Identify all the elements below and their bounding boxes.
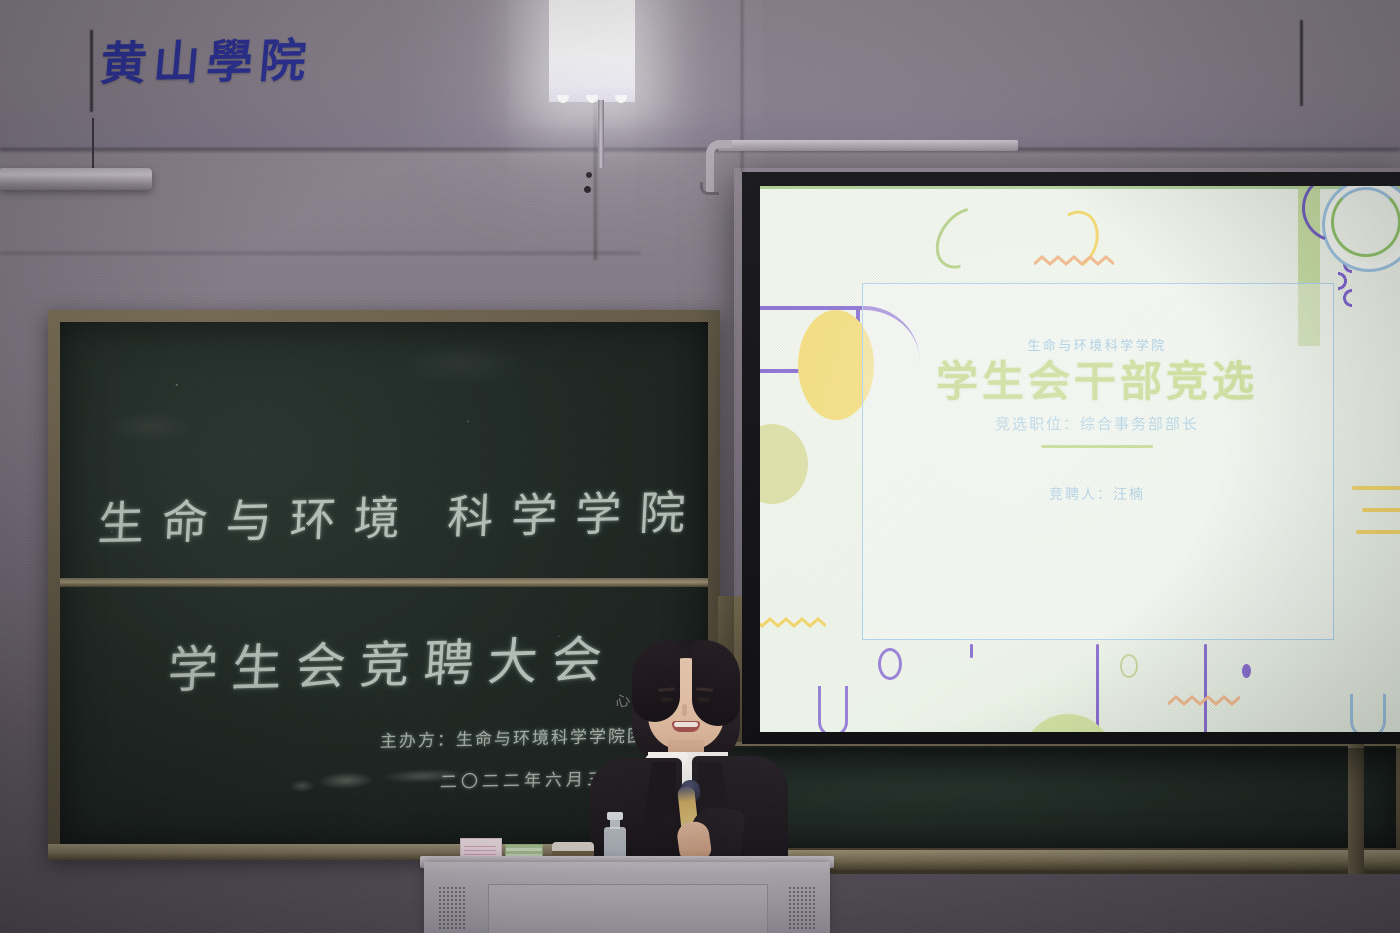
presentation-slide: 生命与环境科学学院 学生会干部竞选 竞选职位：综合事务部部长 竞聘人：汪楠 bbox=[760, 186, 1400, 732]
slide-divider-rule bbox=[1041, 445, 1153, 448]
podium-institution-name: 黄山學院 bbox=[93, 24, 321, 94]
podium-name-panel bbox=[488, 884, 768, 933]
decor-purple-tick bbox=[970, 644, 973, 658]
podium-speaker-right bbox=[788, 886, 816, 930]
ceiling-conduit-left bbox=[90, 30, 93, 112]
ceiling-fitting-secondary bbox=[584, 186, 591, 193]
ceiling-wall-seam bbox=[0, 148, 1400, 155]
light-diffuser bbox=[549, 95, 635, 111]
nose bbox=[682, 704, 687, 716]
lamp-rod-center bbox=[598, 100, 604, 168]
decor-yellow-dash-3 bbox=[1356, 530, 1400, 534]
slide-title: 学生会干部竞选 bbox=[936, 358, 1258, 405]
slide-text-group: 生命与环境科学学院 学生会干部竞选 竞选职位：综合事务部部长 竞聘人：汪楠 bbox=[862, 283, 1332, 638]
chalk-text-college: 生命与环境 科学学院 bbox=[96, 476, 705, 554]
ceiling-conduit-right bbox=[1300, 20, 1303, 106]
decor-orange-zigzag-bottom bbox=[1168, 694, 1240, 708]
decor-orange-zigzag bbox=[1034, 254, 1114, 268]
decor-green-arc bbox=[924, 196, 1004, 279]
teeth bbox=[674, 722, 698, 727]
logo-inner-ring bbox=[1331, 187, 1400, 257]
decor-yellow-dash-2 bbox=[1362, 508, 1400, 512]
slide-college-name: 生命与环境科学学院 bbox=[1027, 335, 1167, 354]
projector-rail bbox=[718, 140, 1018, 151]
decor-yellow-zigzag-left bbox=[760, 616, 826, 630]
podium bbox=[424, 862, 830, 933]
chalk-smudge bbox=[279, 756, 500, 802]
fluorescent-light-center bbox=[549, 0, 635, 102]
chalk-text-event: 学生会竞聘大会 bbox=[166, 619, 618, 702]
decor-purple-line bbox=[760, 306, 860, 310]
cable-hook bbox=[700, 182, 719, 195]
eye-left bbox=[660, 697, 673, 702]
decor-purple-dot bbox=[1242, 664, 1251, 678]
wall-seam bbox=[0, 252, 640, 257]
decor-blue-u bbox=[1350, 694, 1386, 732]
decor-purple-vertical bbox=[1096, 644, 1099, 732]
fluorescent-light-left bbox=[0, 168, 152, 190]
decor-green-dome bbox=[1022, 714, 1114, 732]
slide-position: 竞选职位：综合事务部部长 bbox=[995, 413, 1199, 434]
hair-front-left bbox=[632, 640, 680, 722]
decor-purple-u bbox=[818, 686, 848, 732]
ceiling-fitting bbox=[586, 172, 592, 178]
decor-purple-vertical-2 bbox=[1204, 644, 1207, 732]
classroom-presentation-scene: 生命与环境 科学学院 学生会竞聘大会 主办方：生命与环境科学学院团委 二〇二二年… bbox=[0, 0, 1400, 933]
decor-college-logo bbox=[1322, 186, 1400, 282]
decor-olive-oval bbox=[1120, 654, 1138, 678]
hair-front-right bbox=[692, 640, 740, 726]
eye-right bbox=[697, 697, 710, 702]
decor-olive-half bbox=[760, 424, 808, 504]
blackboard-divider bbox=[60, 578, 708, 587]
decor-purple-oval bbox=[878, 648, 902, 680]
slide-candidate: 竞聘人：汪楠 bbox=[1049, 484, 1145, 504]
decor-yellow-dash-1 bbox=[1352, 486, 1400, 490]
secondary-blackboard-edge bbox=[1348, 742, 1364, 874]
podium-speaker-left bbox=[438, 886, 466, 930]
lamp-rod-left bbox=[92, 118, 94, 170]
